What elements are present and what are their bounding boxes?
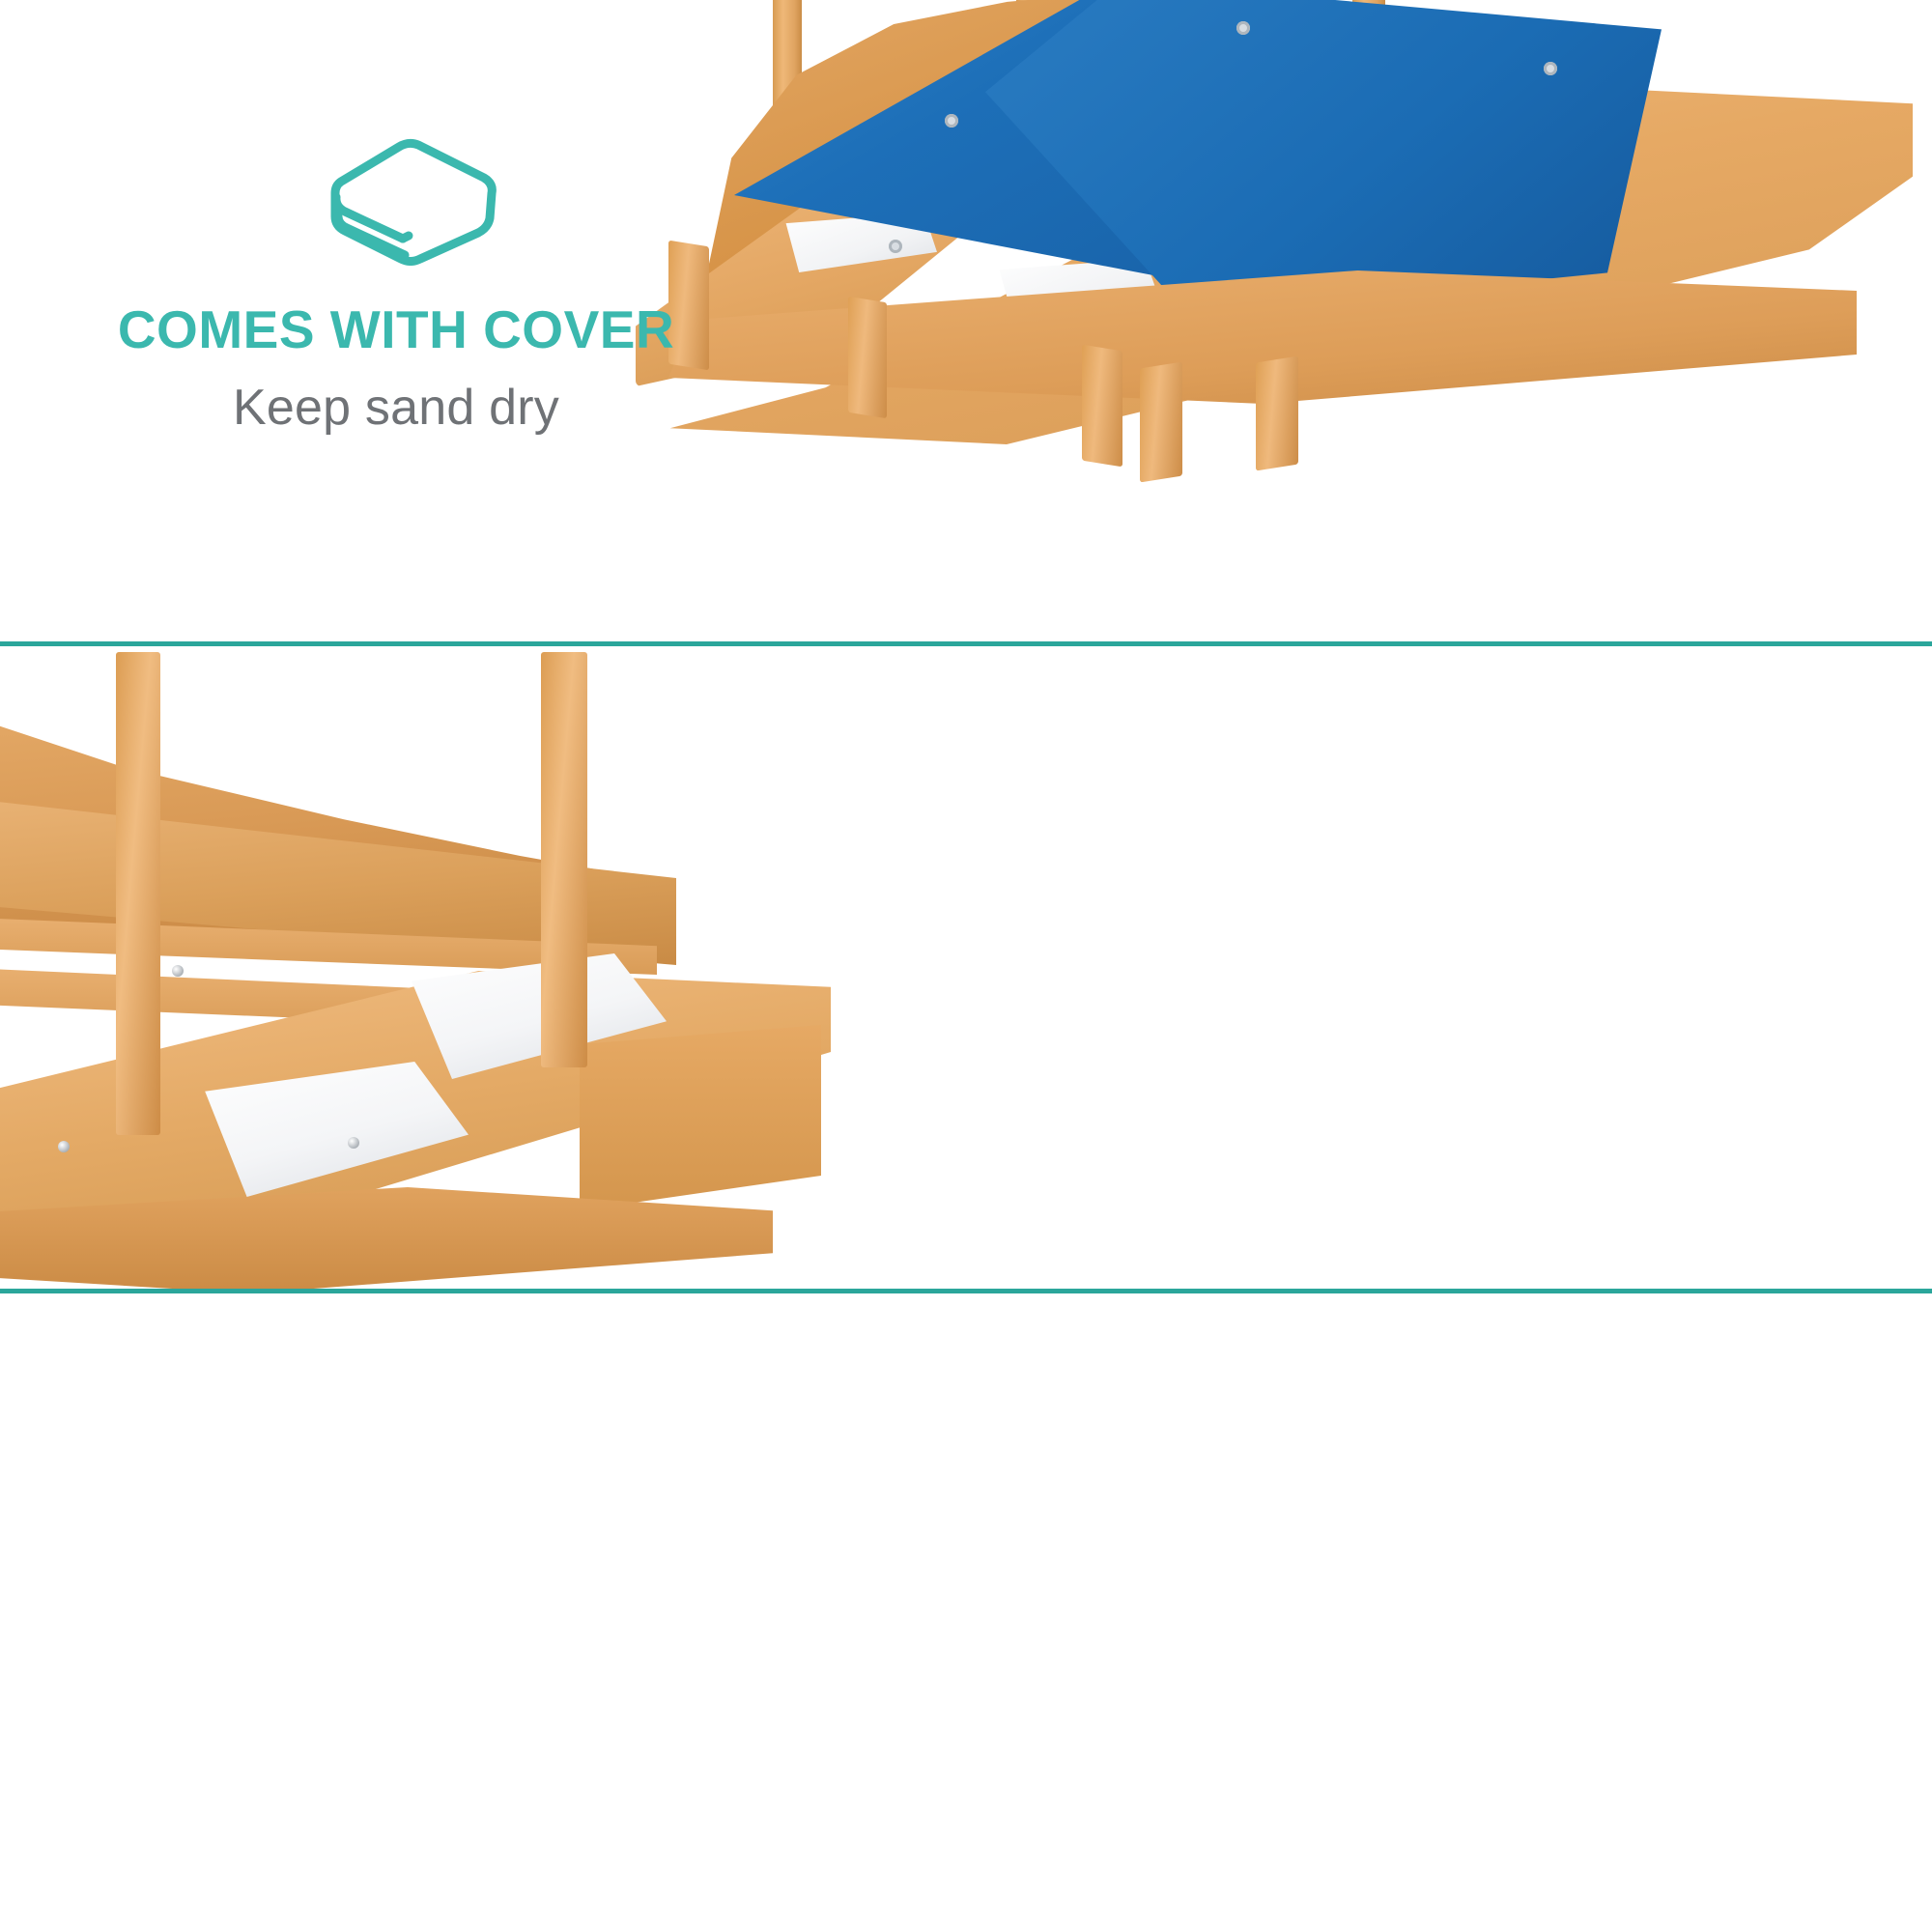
grommet — [1236, 21, 1250, 35]
grommet — [945, 114, 958, 128]
sandbox-leg — [848, 297, 887, 418]
grommet — [889, 240, 902, 253]
sandbox-leg — [1140, 362, 1182, 483]
canopy-post — [541, 652, 587, 1067]
sandbox-bench-with-bins-photo — [0, 646, 831, 1289]
section-comes-with-cover: COMES WITH COVER Keep sand dry — [0, 0, 1932, 641]
feature-headline: COMES WITH COVER — [19, 302, 773, 358]
screw — [58, 1141, 70, 1152]
product-infographic: COMES WITH COVER Keep sand dry — [0, 0, 1932, 1932]
feature-text-comes-with-cover: COMES WITH COVER Keep sand dry — [19, 135, 773, 439]
screw — [348, 1137, 359, 1149]
screw — [172, 965, 184, 977]
section-solid-stained-wood: SOLID STAINED WOOD Durably made of sturd… — [0, 646, 1932, 1289]
folded-cover-icon — [19, 135, 773, 266]
section-safe-materials: ATSM SAFE MATERIALS ASTM-certified for s… — [0, 1293, 1932, 1932]
grommet — [1544, 62, 1557, 75]
sandbox-with-blue-cover-photo — [599, 0, 1932, 522]
sandbox-leg — [1256, 356, 1298, 471]
canopy-post — [116, 652, 160, 1135]
feature-subtext: Keep sand dry — [19, 378, 773, 439]
bench-side-panel — [580, 1025, 821, 1218]
sandbox-leg — [1082, 345, 1122, 468]
